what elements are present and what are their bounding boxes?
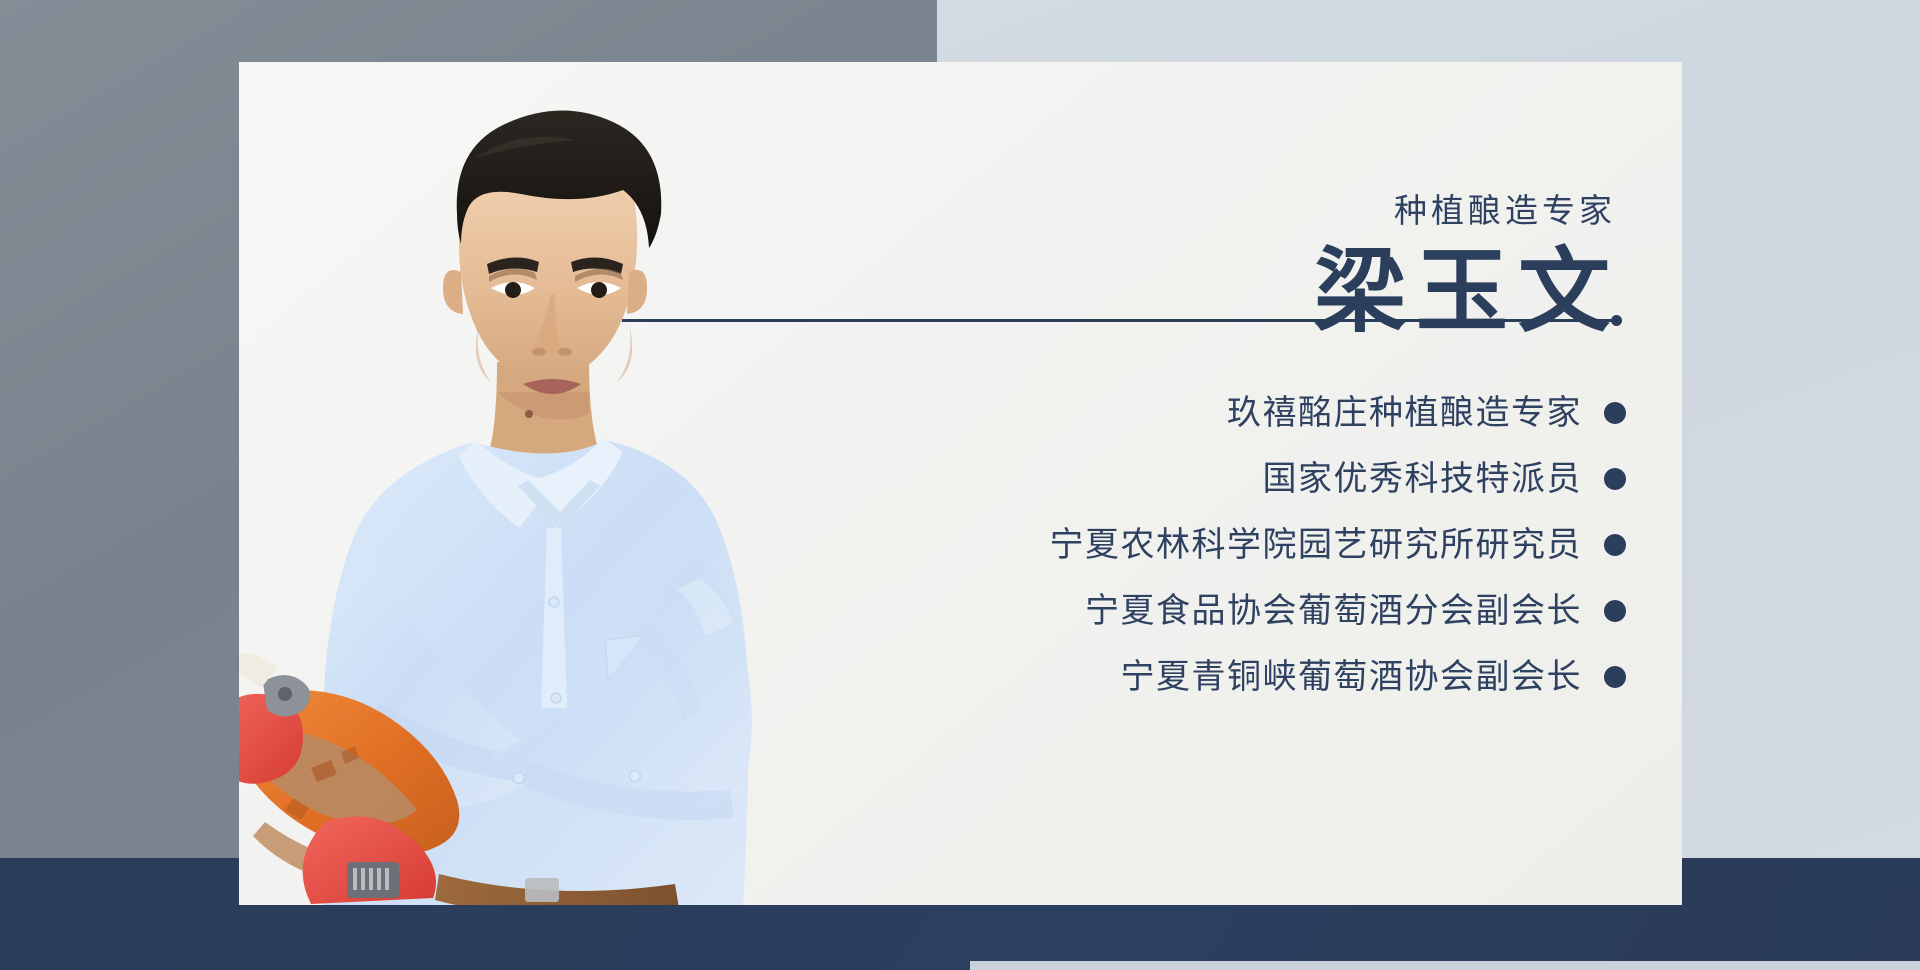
list-item: 宁夏青铜峡葡萄酒协会副会长 bbox=[1121, 656, 1627, 698]
credential-text: 国家优秀科技特派员 bbox=[1263, 462, 1583, 496]
credential-text: 宁夏农林科学院园艺研究所研究员 bbox=[1050, 528, 1583, 562]
bullet-dot-icon bbox=[1604, 402, 1626, 424]
bullet-dot-icon bbox=[1604, 600, 1626, 622]
list-item: 国家优秀科技特派员 bbox=[1263, 458, 1627, 500]
credential-text: 宁夏食品协会葡萄酒分会副会长 bbox=[1085, 594, 1582, 628]
bullet-dot-icon bbox=[1604, 534, 1626, 556]
bullet-dot-icon bbox=[1604, 666, 1626, 688]
divider-line bbox=[622, 319, 1616, 322]
bullet-dot-icon bbox=[1604, 468, 1626, 490]
person-name: 梁玉文 bbox=[1314, 242, 1620, 343]
role-title: 种植酿造专家 bbox=[1394, 194, 1616, 227]
background-bottom-strip bbox=[970, 961, 1920, 970]
credential-text: 宁夏青铜峡葡萄酒协会副会长 bbox=[1121, 660, 1583, 694]
divider-end-dot bbox=[1611, 315, 1622, 326]
list-item: 宁夏食品协会葡萄酒分会副会长 bbox=[1085, 590, 1626, 632]
list-item: 宁夏农林科学院园艺研究所研究员 bbox=[1050, 524, 1627, 566]
list-item: 玖禧酩庄种植酿造专家 bbox=[1227, 392, 1626, 434]
credential-list: 玖禧酩庄种植酿造专家 国家优秀科技特派员 宁夏农林科学院园艺研究所研究员 宁夏食… bbox=[886, 392, 1626, 698]
credential-text: 玖禧酩庄种植酿造专家 bbox=[1227, 396, 1582, 430]
poster-canvas: 种植酿造专家 梁玉文 玖禧酩庄种植酿造专家 国家优秀科技特派员 宁夏农林科学院园… bbox=[0, 0, 1920, 970]
profile-card: 种植酿造专家 梁玉文 玖禧酩庄种植酿造专家 国家优秀科技特派员 宁夏农林科学院园… bbox=[239, 62, 1682, 905]
divider bbox=[622, 315, 1622, 327]
portrait-photo bbox=[239, 62, 849, 905]
